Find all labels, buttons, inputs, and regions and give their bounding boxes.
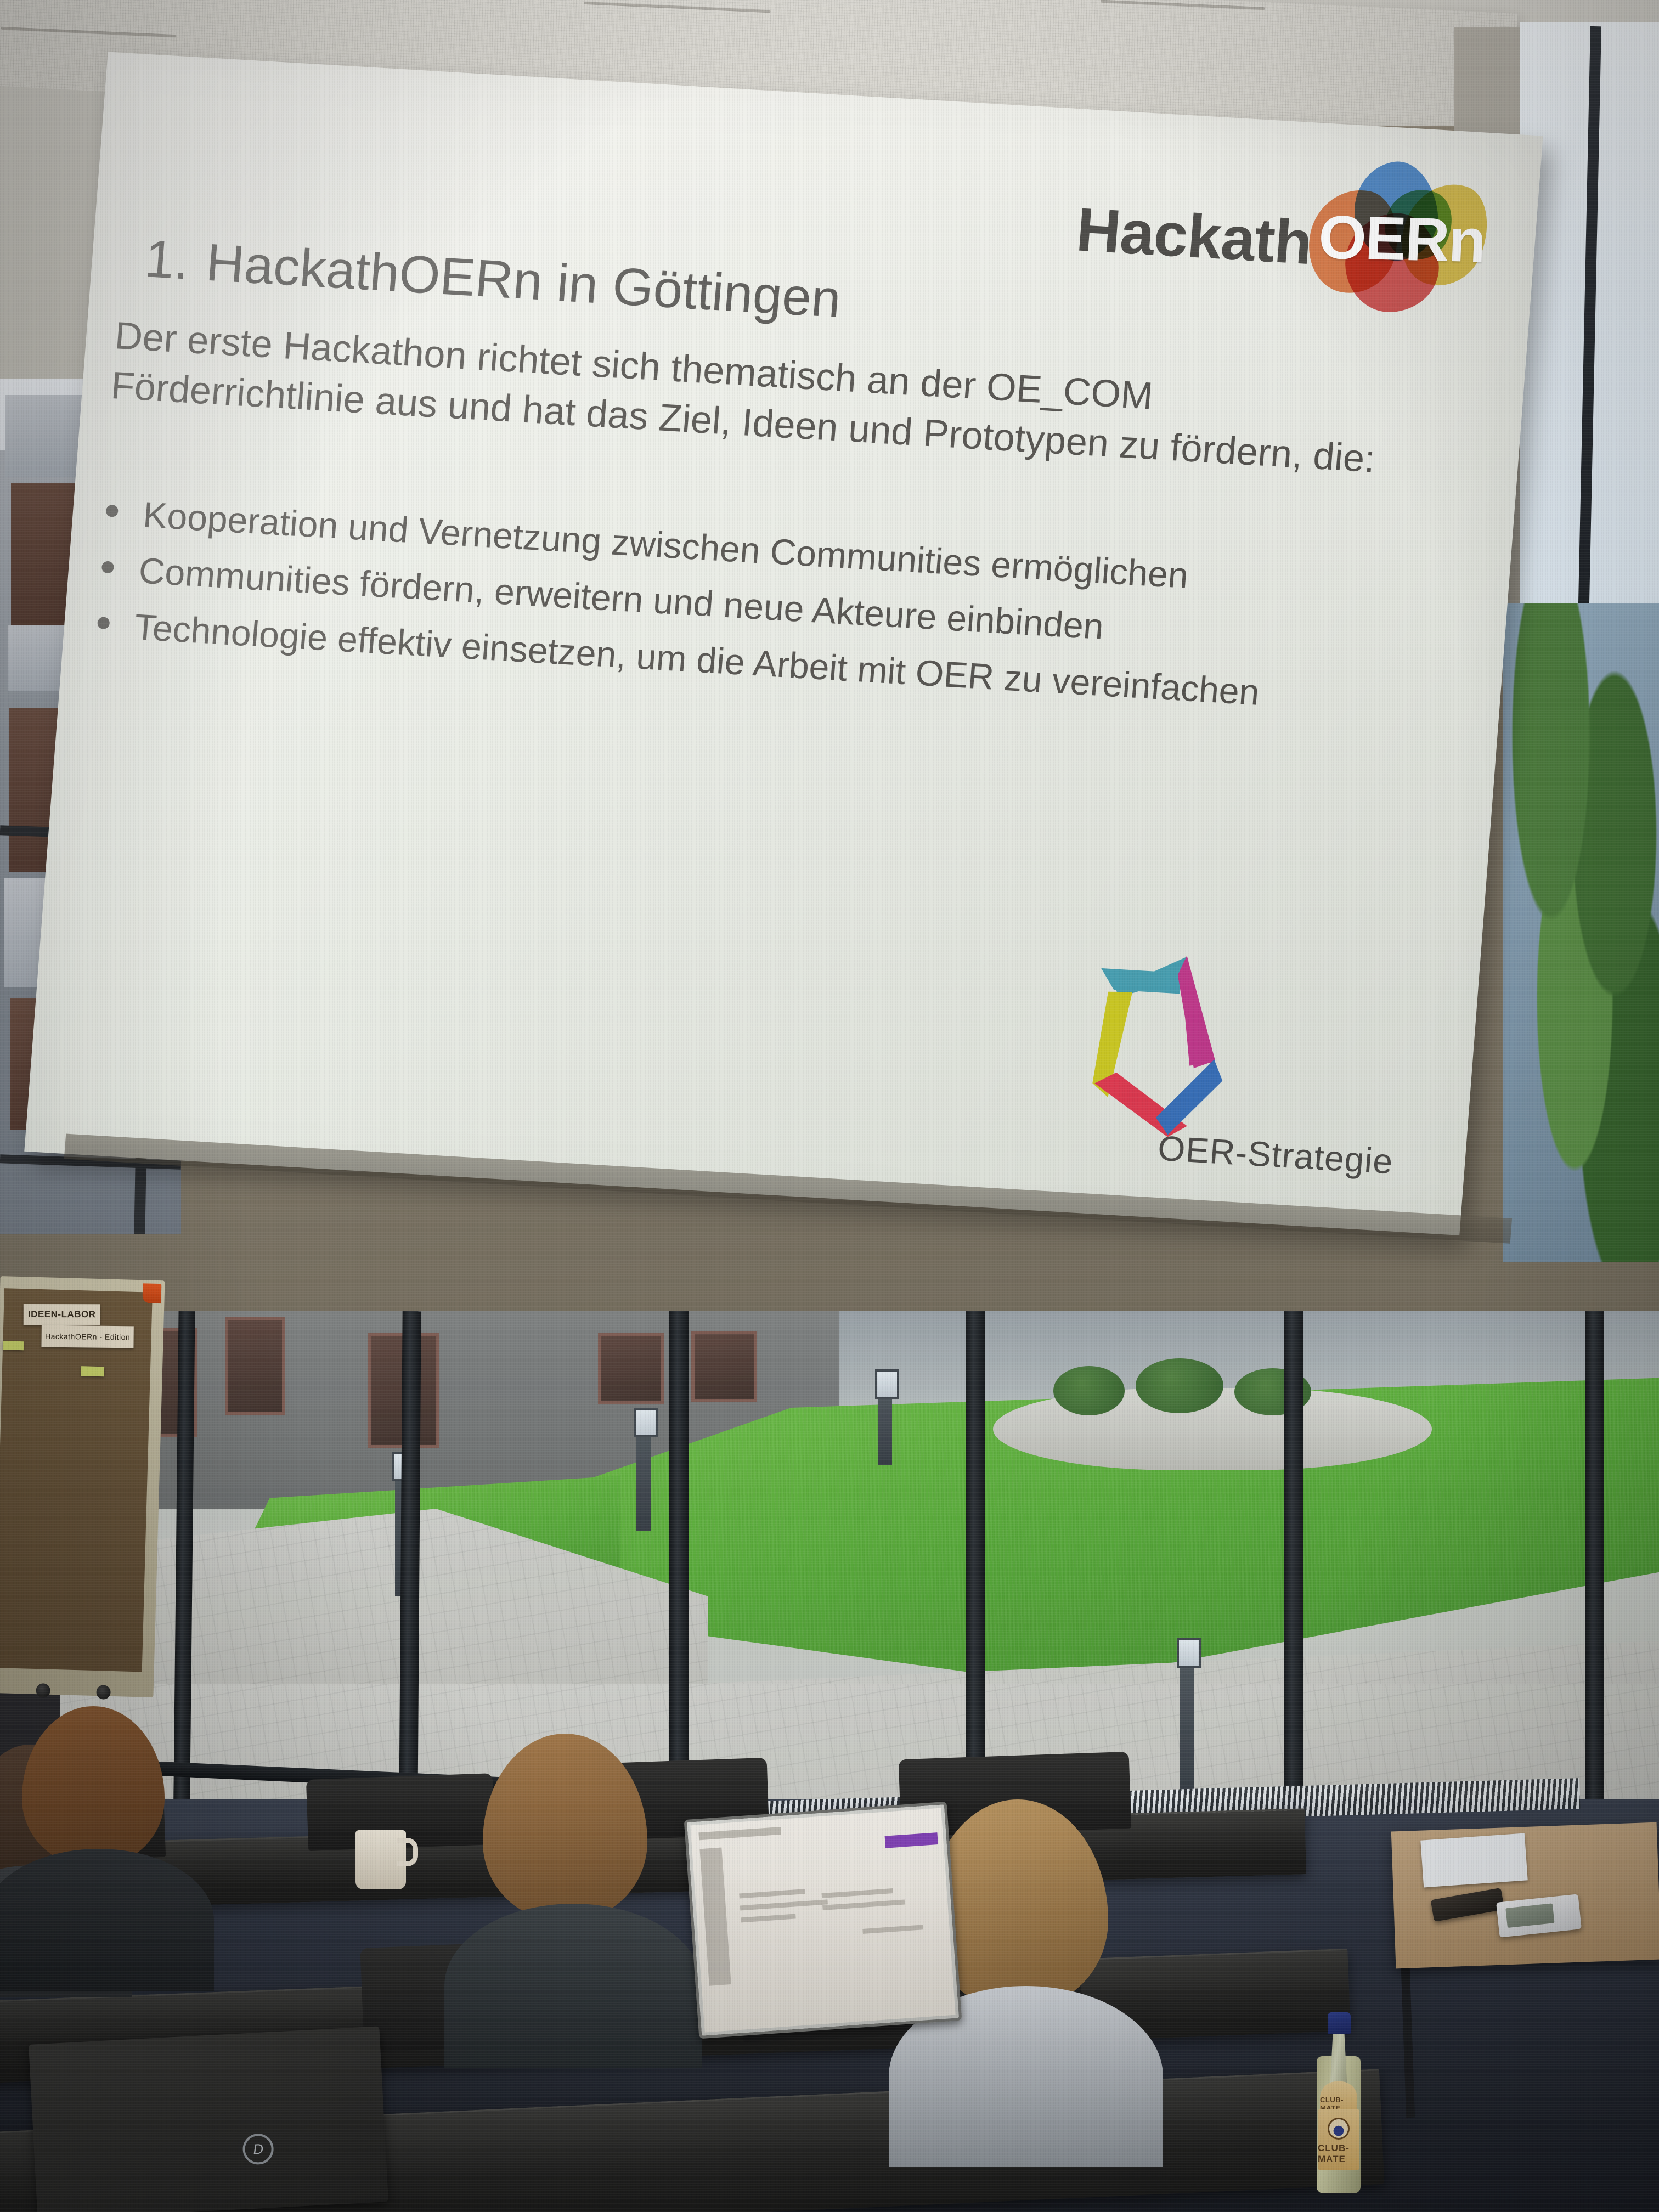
coffee-mug[interactable] [356, 1830, 406, 1889]
sticky-note [3, 1341, 24, 1350]
logo-blobs: OERn [1302, 156, 1493, 303]
lead-paragraph: Der erste Hackathon richtet sich themati… [109, 311, 1470, 489]
dell-logo-icon: D [242, 2133, 274, 2165]
club-mate-emblem-icon [1328, 2118, 1350, 2140]
hackathoern-logo: Hackath OERn [1073, 140, 1493, 306]
oer-strategie-label: OER-Strategie [1156, 1128, 1395, 1182]
pinboard: IDEEN-LABOR HackathOERn - Edition [0, 1276, 165, 1697]
laptop-open[interactable] [684, 1802, 962, 2039]
photo-scene: Hackath OERn 1.HackathOERn in Göttingen [0, 0, 1659, 2212]
laptop-screen[interactable] [690, 1808, 955, 2032]
title-text: HackathOERn in Göttingen [204, 233, 843, 329]
club-mate-bottle[interactable]: CLUB-MATE CLUB-MATE [1317, 2012, 1361, 2193]
sticky-note [81, 1366, 104, 1376]
logo-word-oern: OERn [1317, 201, 1487, 276]
pinboard-subheading-note: HackathOERn - Edition [41, 1325, 133, 1348]
pinboard-heading-note: IDEEN-LABOR [24, 1304, 100, 1325]
bullet-list: Kooperation und Vernetzung zwischen Comm… [91, 486, 1467, 733]
slide-content: Hackath OERn 1.HackathOERn in Göttingen [24, 52, 1543, 1235]
laptop-closed-dell[interactable]: D [29, 2026, 388, 2212]
bottle-body-label: CLUB-MATE [1318, 2109, 1359, 2170]
projection-screen: Hackath OERn 1.HackathOERn in Göttingen [24, 52, 1543, 1235]
bottle-cap [1328, 2012, 1351, 2034]
logo-word-hackath: Hackath [1074, 199, 1314, 274]
oer-pentagon-icon [1071, 918, 1329, 1145]
bullet-dot-icon [101, 561, 115, 573]
title-number: 1. [143, 229, 191, 290]
oer-strategie-logo: OER-Strategie [1052, 917, 1421, 1189]
bullet-dot-icon [97, 617, 110, 629]
lectern-paper [1420, 1833, 1528, 1887]
trees-outside-right [1503, 603, 1659, 1262]
page-title: 1.HackathOERn in Göttingen [143, 229, 843, 330]
pinboard-corner-clip [142, 1283, 161, 1304]
bullet-dot-icon [105, 505, 119, 517]
bottle-body-text: CLUB-MATE [1318, 2143, 1359, 2165]
